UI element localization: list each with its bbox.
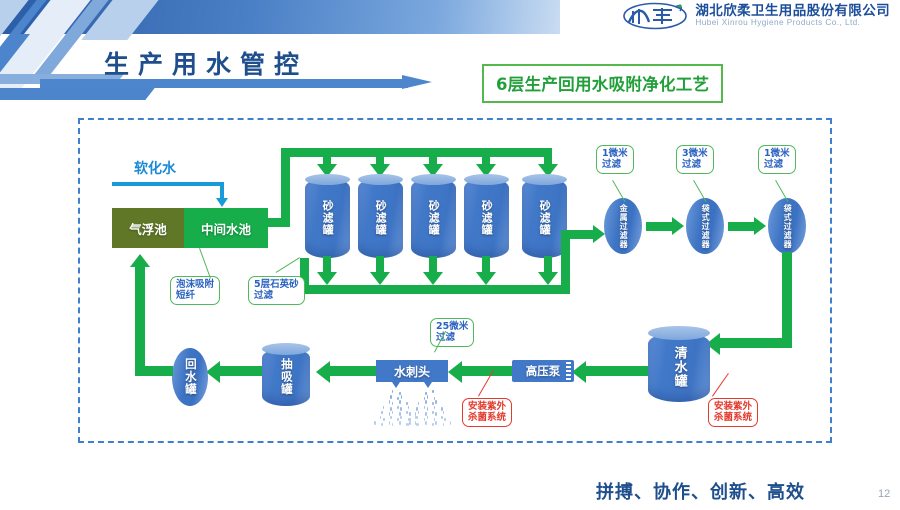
water-droplet — [409, 421, 411, 424]
unit-sand-filter-2-label: 砂滤罐 — [375, 200, 386, 236]
water-droplet — [390, 416, 392, 419]
arrow-right-to-bag1-icon — [672, 217, 684, 235]
pipe-bag2-down — [782, 252, 792, 347]
water-droplet — [400, 407, 402, 410]
arrow-left-to-pump-icon — [572, 361, 586, 383]
inlet-pipe-horizontal — [112, 182, 224, 186]
unit-sand-filter-3-label: 砂滤罐 — [428, 200, 439, 236]
unit-sand-filter-1-label: 砂滤罐 — [322, 200, 333, 236]
arrow-left-to-suction-icon — [316, 361, 330, 383]
arrow-right-to-bag2-icon — [754, 217, 766, 235]
water-droplet — [399, 400, 401, 403]
unit-metal-filter: 金属过滤器 — [604, 198, 642, 254]
water-droplet — [435, 421, 437, 424]
unit-return-water-tank-label: 回水罐 — [184, 358, 196, 396]
callout-micron-3: 3微米 过滤 — [676, 145, 714, 174]
water-droplet — [425, 421, 427, 424]
water-droplet — [374, 421, 376, 424]
unit-flotation-tank: 气浮池 — [112, 208, 184, 248]
pipe-bottom-manifold — [300, 285, 570, 294]
footer-slogan: 拼搏、协作、创新、高效 — [596, 478, 805, 504]
inlet-label-softened-water: 软化水 — [134, 158, 176, 178]
water-droplet — [432, 423, 434, 426]
callout-micron-25: 25微米 过滤 — [430, 318, 474, 347]
title-underline-arrow — [40, 77, 432, 89]
water-droplet — [441, 416, 443, 419]
water-droplet — [406, 411, 408, 414]
xinrou-logo-icon — [622, 2, 688, 30]
unit-sand-filter-5-label: 砂滤罐 — [539, 200, 550, 236]
unit-spunlace-head: 水刺头 — [376, 360, 448, 382]
company-logo-block: 湖北欣柔卫生用品股份有限公司 Hubei Xinrou Hygiene Prod… — [622, 2, 890, 30]
unit-bag-filter-1-label: 袋式过滤器 — [701, 204, 709, 249]
water-droplet — [381, 411, 383, 414]
arrow-out-1-icon — [317, 272, 337, 285]
pipe-to-clean-tank — [720, 338, 792, 348]
arrow-out-5-icon — [538, 272, 558, 285]
arrow-left-to-spunlace-icon — [448, 361, 462, 383]
pipe-collector-right-riser — [561, 230, 570, 292]
water-droplet — [383, 418, 385, 421]
spray-nozzle-2-icon — [424, 382, 432, 388]
arrow-out-3-icon — [423, 272, 443, 285]
callout-uv-sterilizer-left: 安装紫外 杀菌系统 — [462, 398, 512, 427]
pipe-bag1-to-bag2 — [728, 222, 756, 231]
pipe-pump-to-spunlace — [462, 366, 512, 376]
water-droplet — [427, 407, 429, 410]
unit-clean-water-tank-label: 清水罐 — [672, 346, 685, 388]
unit-suction-tank-label: 抽吸罐 — [280, 358, 292, 396]
water-droplet — [389, 400, 391, 403]
unit-metal-filter-label: 金属过滤器 — [619, 204, 627, 249]
water-droplet — [390, 395, 392, 398]
pipe-clean-to-pump — [586, 366, 648, 376]
unit-bag-filter-2-label: 袋式过滤器 — [783, 204, 791, 249]
unit-intermediate-pool: 中间水池 — [184, 208, 268, 248]
unit-intermediate-pool-label: 中间水池 — [201, 219, 251, 238]
water-droplet — [401, 395, 403, 398]
water-droplet — [432, 411, 434, 414]
water-droplet — [435, 400, 437, 403]
water-droplet — [425, 400, 427, 403]
water-droplet — [397, 406, 399, 409]
water-droplet — [399, 421, 401, 424]
water-droplet — [427, 395, 429, 398]
process-title-text: 6层生产回用水吸附净化工艺 — [496, 75, 709, 94]
arrow-out-4-icon — [476, 272, 496, 285]
pipe-riser-left — [281, 148, 290, 227]
callout-micron-1b: 1微米 过滤 — [758, 145, 796, 174]
pipe-return-riser — [135, 266, 145, 376]
callout-micron-1: 1微米 过滤 — [596, 145, 634, 174]
water-droplet — [435, 412, 437, 415]
unit-sand-filter-3: 砂滤罐 — [411, 178, 456, 258]
pump-fins-icon — [566, 362, 571, 380]
inlet-arrow-icon — [216, 198, 228, 207]
unit-clean-water-tank: 清水罐 — [648, 332, 710, 402]
pipe-suction-to-return — [220, 366, 262, 376]
company-name-cn: 湖北欣柔卫生用品股份有限公司 — [695, 4, 890, 18]
spray-nozzle-1-icon — [392, 382, 400, 388]
arrow-left-to-return-icon — [206, 361, 220, 383]
pipe-to-metal-filter — [561, 230, 595, 239]
company-name-en: Hubei Xinrou Hygiene Products Co., Ltd. — [695, 19, 890, 28]
unit-flotation-tank-label: 气浮池 — [129, 219, 167, 238]
water-droplet — [409, 412, 411, 415]
water-droplet — [409, 418, 411, 421]
page-number: 12 — [878, 488, 890, 500]
callout-foam-short-fiber: 泡沫吸附 短纤 — [170, 276, 220, 305]
pipe-metal-to-bag1 — [646, 222, 674, 231]
pipe-spunlace-to-suction — [330, 366, 376, 376]
arrow-out-2-icon — [370, 272, 390, 285]
unit-bag-filter-2: 袋式过滤器 — [768, 198, 806, 254]
unit-sand-filter-1: 砂滤罐 — [305, 178, 350, 258]
callout-uv-sterilizer-right: 安装紫外 杀菌系统 — [708, 398, 758, 427]
callout-quartz-sand: 5层石英砂 过滤 — [248, 276, 305, 305]
water-droplet — [424, 406, 426, 409]
slide-canvas: 湖北欣柔卫生用品股份有限公司 Hubei Xinrou Hygiene Prod… — [0, 0, 900, 510]
water-droplet — [406, 402, 408, 405]
page-title: 生产用水管控 — [104, 45, 308, 81]
water-droplet — [444, 418, 446, 421]
unit-suction-tank: 抽吸罐 — [262, 348, 310, 406]
pipe-top-manifold — [281, 148, 552, 157]
unit-sand-filter-4-label: 砂滤罐 — [481, 200, 492, 236]
unit-high-pressure-pump: 高压泵 — [512, 360, 574, 382]
unit-sand-filter-4: 砂滤罐 — [464, 178, 509, 258]
unit-bag-filter-1: 袋式过滤器 — [686, 198, 724, 254]
process-title-box: 6层生产回用水吸附净化工艺 — [482, 64, 723, 103]
unit-return-water-tank: 回水罐 — [172, 348, 208, 406]
arrow-up-to-flotation-icon — [130, 254, 150, 267]
unit-sand-filter-2: 砂滤罐 — [358, 178, 403, 258]
unit-spunlace-head-label: 水刺头 — [394, 363, 430, 380]
unit-high-pressure-pump-label: 高压泵 — [526, 363, 561, 379]
